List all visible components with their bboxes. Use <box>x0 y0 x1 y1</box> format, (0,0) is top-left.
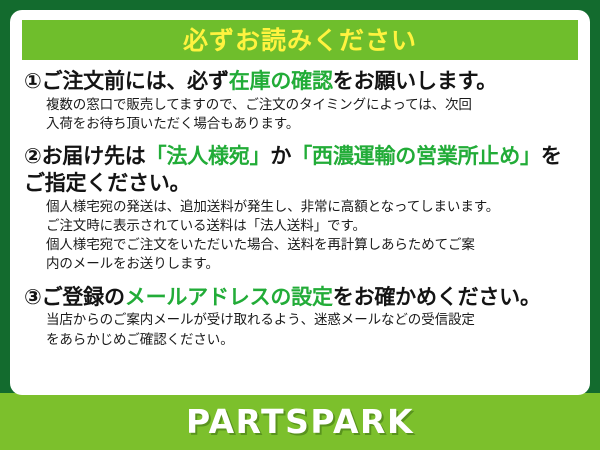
notice-item-2-heading: ②お届け先は「法人様宛」か「西濃運輸の営業所止め」をご指定ください。 <box>24 143 576 197</box>
notice-item-1-heading-part-3: をお願いします。 <box>333 69 497 93</box>
notice-item-3-heading-part-3: をお確かめください。 <box>333 285 541 309</box>
notice-header-bar: 必ずお読みください <box>22 20 578 60</box>
notice-card: 必ずお読みください ①ご注文前には、必ず在庫の確認をお願いします。 複数の窓口で… <box>10 10 590 395</box>
notice-item-2-heading-part-1: ②お届け先は <box>24 144 146 168</box>
notice-item-3-detail-line-2: をあらかじめご確認ください。 <box>46 331 576 350</box>
notice-header-title: 必ずお読みください <box>183 28 417 53</box>
notice-item-1-detail-line-1: 複数の窓口で販売してますので、ご注文のタイミングによっては、次回 <box>46 96 576 115</box>
notice-item-1-heading: ①ご注文前には、必ず在庫の確認をお願いします。 <box>24 68 576 95</box>
notice-item-1-heading-part-1: ①ご注文前には、必ず <box>24 69 229 93</box>
notice-item-3-heading-part-1: ③ご登録の <box>24 285 125 309</box>
notice-item-2-detail-line-1: 個人様宅宛の発送は、追加送料が発生し、非常に高額となってしまいます。 <box>46 198 576 217</box>
notice-item-3-detail-line-1: 当店からのご案内メールが受け取れるよう、迷惑メールなどの受信設定 <box>46 311 576 330</box>
notice-item-1-detail-line-2: 入荷をお待ち頂いただく場合もあります。 <box>46 115 576 134</box>
notice-item-2-heading-part-2: 「法人様宛」 <box>146 144 271 168</box>
notice-item-3-heading-part-2: メールアドレスの設定 <box>125 285 333 309</box>
notice-item-2-heading-part-4: 「西濃運輸の営業所止め」 <box>291 144 541 168</box>
brand-logo: PARTSPARK <box>186 405 414 438</box>
footer-band: PARTSPARK <box>0 393 600 450</box>
notice-item-3: ③ご登録のメールアドレスの設定をお確かめください。 当店からのご案内メールが受け… <box>24 284 576 350</box>
notice-item-2-detail-line-2: ご注文時に表示されている送料は「法人送料」です。 <box>46 217 576 236</box>
notice-item-2-heading-part-3: か <box>270 144 291 168</box>
notice-item-2-detail-line-3: 個人様宅宛でご注文をいただいた場合、送料を再計算しあらためてご案 <box>46 236 576 255</box>
notice-item-2: ②お届け先は「法人様宛」か「西濃運輸の営業所止め」をご指定ください。 個人様宅宛… <box>24 143 576 274</box>
notice-item-2-detail-line-4: 内のメールをお送りします。 <box>46 255 576 274</box>
notice-body: ①ご注文前には、必ず在庫の確認をお願いします。 複数の窓口で販売してますので、ご… <box>10 60 590 350</box>
notice-item-1: ①ご注文前には、必ず在庫の確認をお願いします。 複数の窓口で販売してますので、ご… <box>24 68 576 134</box>
notice-item-3-heading: ③ご登録のメールアドレスの設定をお確かめください。 <box>24 284 576 311</box>
notice-item-1-detail: 複数の窓口で販売してますので、ご注文のタイミングによっては、次回入荷をお待ち頂い… <box>46 96 576 134</box>
notice-item-2-detail: 個人様宅宛の発送は、追加送料が発生し、非常に高額となってしまいます。ご注文時に表… <box>46 198 576 275</box>
notice-item-1-heading-part-2: 在庫の確認 <box>229 69 333 93</box>
notice-item-3-detail: 当店からのご案内メールが受け取れるよう、迷惑メールなどの受信設定をあらかじめご確… <box>46 311 576 349</box>
notice-frame: PARTSPARK 必ずお読みください ①ご注文前には、必ず在庫の確認をお願いし… <box>0 0 600 450</box>
